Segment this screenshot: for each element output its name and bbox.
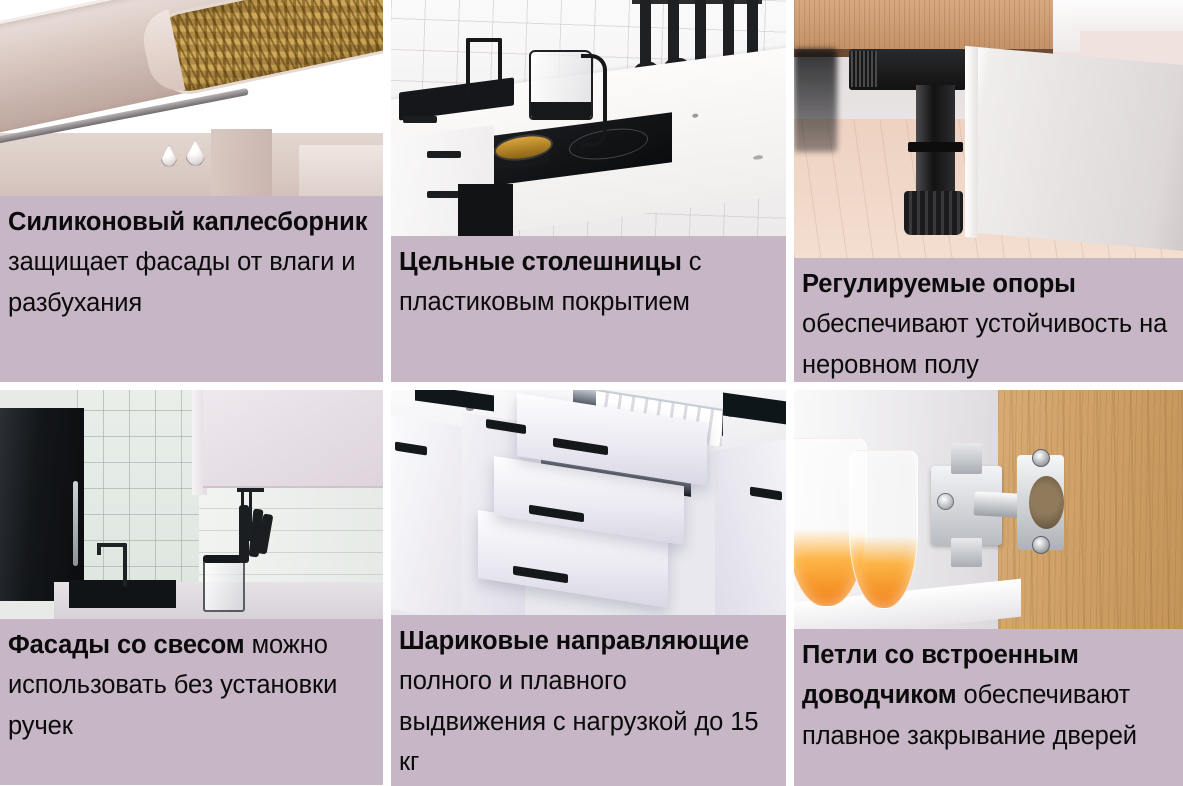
caption-adjustable-legs: Регулируемые опоры обеспечивают устойчив… bbox=[794, 258, 1183, 382]
caption-ball-bearing-slides: Шариковые направляющие полного и плавног… bbox=[391, 615, 786, 786]
drawer-handle bbox=[427, 151, 461, 158]
feature-card-adjustable-legs[interactable]: Регулируемые опоры обеспечивают устойчив… bbox=[794, 0, 1183, 382]
caption-bold-text: Фасады со свесом bbox=[8, 631, 245, 659]
wine-glass bbox=[849, 450, 918, 610]
photo-kitchen-worktop bbox=[391, 0, 786, 236]
white-panel bbox=[1072, 0, 1183, 31]
photo-countertop-cross-section bbox=[0, 0, 383, 196]
caption-bold-text: Цельные столешницы bbox=[399, 248, 682, 276]
faucet-icon bbox=[123, 543, 127, 587]
right-cabinet-door bbox=[715, 438, 786, 615]
faucet-icon bbox=[466, 38, 470, 99]
cabinet-front-edge bbox=[211, 129, 272, 196]
plinth-panel bbox=[966, 46, 1183, 251]
feature-grid: Силиконовый каплесборник защищает фасады… bbox=[0, 0, 1183, 786]
caption-silicone-drip-catcher: Силиконовый каплесборник защищает фасады… bbox=[0, 196, 383, 382]
hinge-plate-tab bbox=[951, 443, 982, 474]
tall-black-cabinet bbox=[0, 408, 84, 600]
caption-bold-text: Регулируемые опоры bbox=[802, 270, 1076, 298]
plinth-edge bbox=[965, 46, 978, 238]
photo-open-drawers bbox=[391, 390, 786, 615]
drawer-handle bbox=[403, 116, 437, 123]
photo-soft-close-hinge bbox=[794, 390, 1183, 629]
glass-kettle bbox=[203, 558, 245, 612]
caption-solid-countertops: Цельные столешницы с пластиковым покрыти… bbox=[391, 236, 786, 382]
built-in-oven bbox=[458, 184, 513, 236]
feature-card-silicone-drip-catcher[interactable]: Силиконовый каплесборник защищает фасады… bbox=[0, 0, 383, 382]
feature-card-ball-bearing-slides[interactable]: Шариковые направляющие полного и плавног… bbox=[391, 390, 786, 786]
drawer-handle bbox=[427, 191, 461, 198]
hinge-cup bbox=[1029, 476, 1064, 529]
leg-mounting-bracket bbox=[849, 49, 967, 90]
caption-rest-text: обеспечивают устойчивость на неровном по… bbox=[802, 310, 1167, 378]
leg-adjust-ring bbox=[908, 142, 963, 152]
cabinet-side-panel bbox=[299, 145, 383, 196]
feature-card-soft-close-hinges[interactable]: Петли со встроенным доводчиком обеспечив… bbox=[794, 390, 1183, 786]
caption-rest-text: полного и плавного выдвижения с нагрузко… bbox=[399, 667, 758, 776]
kettle-handle bbox=[581, 54, 607, 147]
photo-adjustable-leg bbox=[794, 0, 1183, 258]
leg-foot bbox=[904, 191, 963, 235]
photo-handleless-kitchen bbox=[0, 390, 383, 619]
background-leg-blurred bbox=[794, 49, 837, 152]
hinge-plate-tab bbox=[951, 538, 982, 567]
caption-soft-close-hinges: Петли со встроенным доводчиком обеспечив… bbox=[794, 629, 1183, 786]
upper-cabinet-handleless bbox=[203, 390, 383, 488]
caption-bold-text: Силиконовый каплесборник bbox=[8, 208, 367, 236]
caption-bold-text: Шариковые направляющие bbox=[399, 627, 749, 655]
feature-card-solid-countertops[interactable]: Цельные столешницы с пластиковым покрыти… bbox=[391, 0, 786, 382]
feature-card-overhang-fronts[interactable]: Фасады со свесом можно использовать без … bbox=[0, 390, 383, 786]
caption-rest-text: защищает фасады от влаги и разбухания bbox=[8, 248, 355, 316]
caption-overhang-fronts: Фасады со свесом можно использовать без … bbox=[0, 619, 383, 785]
